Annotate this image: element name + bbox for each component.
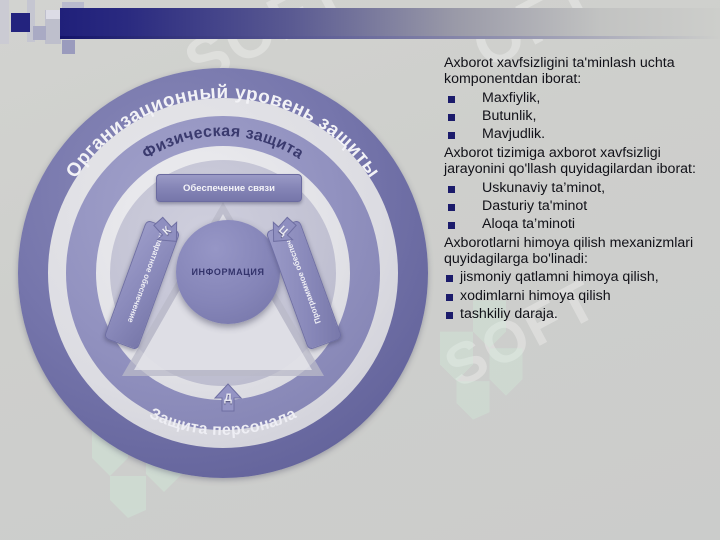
arrow-d-label: Д [224, 392, 232, 404]
intro-paragraph-3: Axborotlarni himoya qilish mexanizmlari … [444, 236, 708, 268]
list-item: tashkiliy daraja. [444, 306, 708, 322]
communication-support-box: Обеспечение связи [156, 174, 302, 202]
list-item: Mavjudlik. [444, 126, 708, 142]
header-square-5 [46, 10, 61, 19]
core-information-circle: ИНФОРМАЦИЯ [176, 220, 280, 324]
header-square-1 [11, 13, 30, 32]
core-information-label: ИНФОРМАЦИЯ [191, 267, 264, 277]
slide-canvas: SOFT OFT SOFT SOFT [0, 0, 720, 540]
list-item: jismoniy qatlamni himoya qilish, [444, 269, 708, 285]
header-gradient-bar [60, 8, 720, 36]
list-item: Dasturiy ta'minot [444, 198, 708, 214]
bullet-list-1: Maxfiylik, Butunlik, Mavjudlik. [444, 90, 708, 143]
bullet-list-2: Uskunaviy ta’minot, Dasturiy ta'minot Al… [444, 180, 708, 233]
bullet-list-3: jismoniy qatlamni himoya qilish, xodimla… [444, 269, 708, 322]
slide-header-decoration [0, 0, 720, 52]
security-layers-diagram: Организационный уровень защиты Физическа… [18, 68, 428, 488]
list-item: Maxfiylik, [444, 90, 708, 106]
list-item: xodimlarni himoya qilish [444, 288, 708, 304]
header-square-2 [33, 26, 46, 40]
intro-paragraph-1: Axborot xavfsizligini ta'minlash uchta k… [444, 56, 708, 88]
content-text-column: Axborot xavfsizligini ta'minlash uchta k… [444, 56, 708, 325]
arrow-availability-icon: Д [213, 383, 243, 413]
list-item: Butunlik, [444, 108, 708, 124]
communication-support-label: Обеспечение связи [183, 183, 275, 194]
header-square-6 [0, 0, 9, 44]
intro-paragraph-2: Axborot tizimiga axborot xavfsizligi jar… [444, 146, 708, 178]
header-gradient-underline [60, 36, 720, 39]
header-square-7 [62, 40, 75, 54]
list-item: Aloqa ta’minoti [444, 216, 708, 232]
list-item: Uskunaviy ta’minot, [444, 180, 708, 196]
